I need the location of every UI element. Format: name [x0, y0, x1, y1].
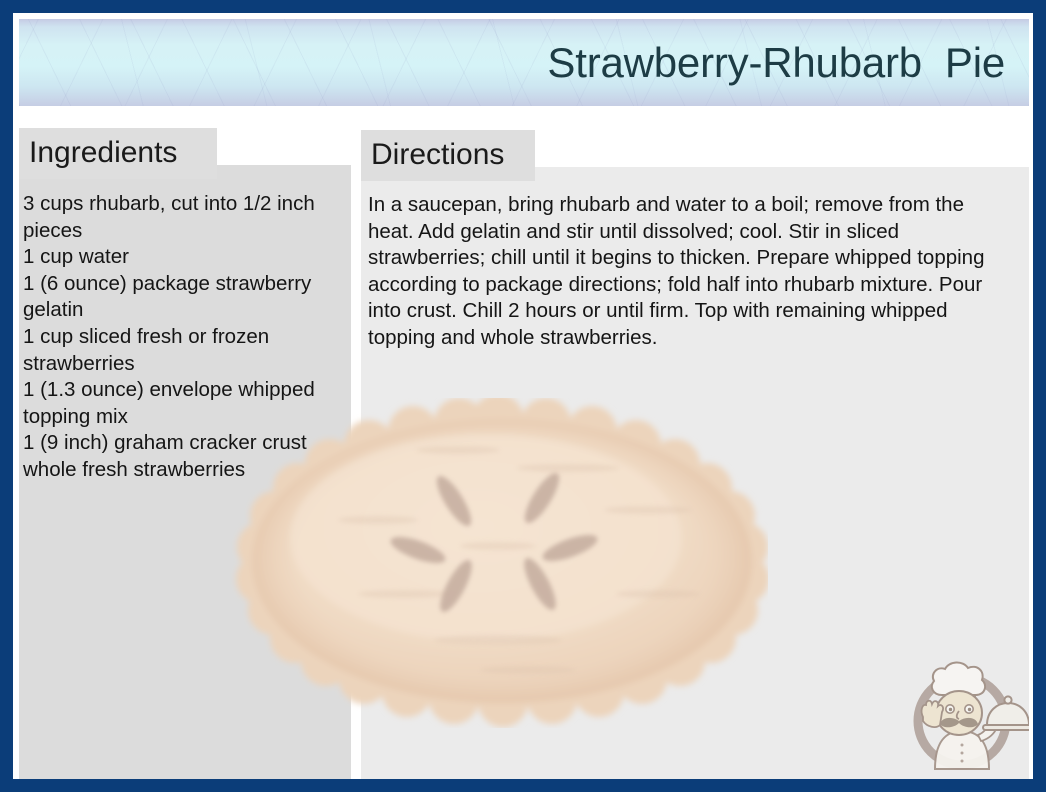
directions-heading: Directions	[361, 130, 535, 181]
directions-body: In a saucepan, bring rhubarb and water t…	[368, 192, 998, 352]
slide-border-top	[0, 0, 1046, 13]
slide-border-right	[1033, 0, 1046, 792]
chef-logo	[895, 645, 1029, 779]
ingredients-heading: Ingredients	[19, 128, 217, 179]
slide-border-left	[0, 0, 13, 792]
recipe-slide: Strawberry-Rhubarb Pie Ingredients Direc…	[0, 0, 1046, 792]
title-banner: Strawberry-Rhubarb Pie	[19, 19, 1029, 106]
slide-border-bottom	[0, 779, 1046, 792]
ingredients-list: 3 cups rhubarb, cut into 1/2 inch pieces…	[23, 191, 345, 484]
page-title: Strawberry-Rhubarb Pie	[547, 42, 1005, 84]
